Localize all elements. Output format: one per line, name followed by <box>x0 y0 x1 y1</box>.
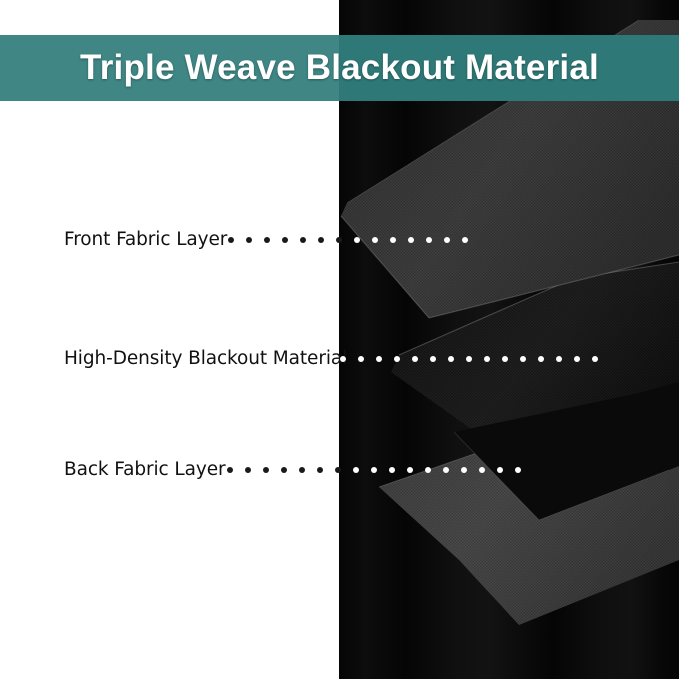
leader-dot <box>353 467 359 473</box>
leader-dot <box>376 356 382 362</box>
leader-dot <box>574 356 580 362</box>
leader-dot <box>592 356 598 362</box>
callout-label: Back Fabric Layer <box>64 457 226 483</box>
leader-dot <box>335 467 341 473</box>
title-banner: Triple Weave Blackout Material <box>0 35 679 101</box>
leader-dot <box>407 467 413 473</box>
leader-dot <box>282 237 288 243</box>
leader-dot <box>425 467 431 473</box>
callout-row: Back Fabric Layer <box>0 457 679 483</box>
leader-dot <box>317 467 323 473</box>
leader-dot <box>340 356 346 362</box>
callout-label: High-Density Blackout Material <box>64 346 347 372</box>
leader-line <box>227 457 530 483</box>
leader-dot <box>466 356 472 362</box>
leader-dot <box>371 467 377 473</box>
leader-dot <box>354 237 360 243</box>
leader-dot <box>497 467 503 473</box>
leader-dot <box>246 237 252 243</box>
leader-dot <box>448 356 454 362</box>
background-right-curtain <box>339 0 679 679</box>
leader-dot <box>479 467 485 473</box>
leader-dot <box>484 356 490 362</box>
leader-dot <box>336 237 342 243</box>
leader-dot <box>515 467 521 473</box>
leader-dot <box>358 356 364 362</box>
page-title: Triple Weave Blackout Material <box>0 35 679 101</box>
leader-dot <box>389 467 395 473</box>
leader-dot <box>408 237 414 243</box>
leader-dot <box>394 356 400 362</box>
leader-dot <box>372 237 378 243</box>
callout-label: Front Fabric Layer <box>64 227 227 253</box>
leader-dot <box>300 237 306 243</box>
leader-dot <box>426 237 432 243</box>
leader-dot <box>390 237 396 243</box>
leader-dot <box>461 467 467 473</box>
leader-line <box>340 346 598 372</box>
leader-dot <box>556 356 562 362</box>
leader-dot <box>538 356 544 362</box>
leader-dot <box>444 237 450 243</box>
leader-dot <box>502 356 508 362</box>
leader-dot <box>412 356 418 362</box>
leader-dot <box>520 356 526 362</box>
product-infographic: Triple Weave Blackout Material Front Fab… <box>0 0 679 679</box>
leader-dot <box>264 237 270 243</box>
leader-dot <box>299 467 305 473</box>
background-left-white <box>0 0 339 679</box>
callout-row: High-Density Blackout Material <box>0 346 679 372</box>
leader-line <box>228 227 474 253</box>
leader-dot <box>462 237 468 243</box>
leader-dot <box>245 467 251 473</box>
leader-dot <box>443 467 449 473</box>
leader-dot <box>228 237 234 243</box>
leader-dot <box>281 467 287 473</box>
leader-dot <box>430 356 436 362</box>
leader-dot <box>318 237 324 243</box>
callout-row: Front Fabric Layer <box>0 227 679 253</box>
leader-dot <box>263 467 269 473</box>
leader-dot <box>227 467 233 473</box>
